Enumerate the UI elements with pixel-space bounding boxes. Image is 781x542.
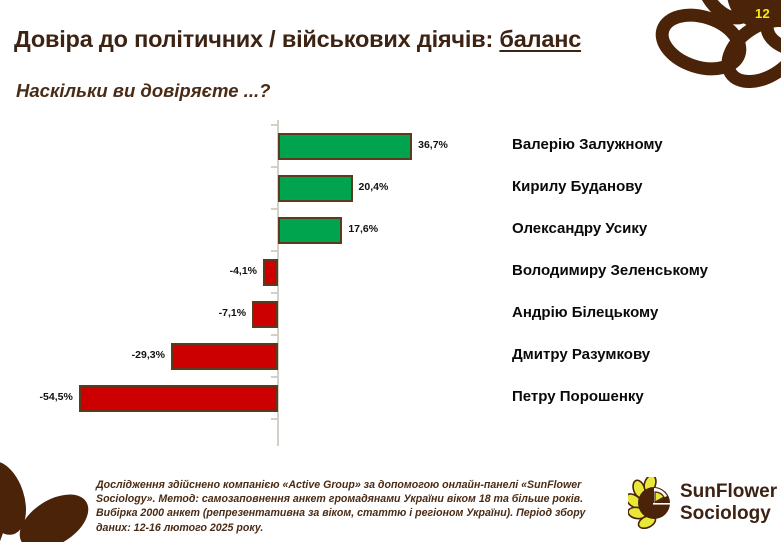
category-label: Кирилу Буданову (512, 178, 642, 195)
slide: 12 Довіра до політичних / військових дія… (0, 0, 781, 542)
trust-balance-bar-chart: 36,7%20,4%17,6%-4,1%-7,1%-29,3%-54,5% Ва… (0, 118, 781, 448)
bar-value-label: 20,4% (359, 181, 389, 193)
petals-decoration-icon (0, 450, 96, 542)
bar-value-label: 36,7% (418, 139, 448, 151)
bar-value-label: -7,1% (219, 307, 246, 319)
sunflower-logo-icon (628, 477, 676, 529)
page-title-main: Довіра до політичних / військових діячів… (14, 26, 493, 52)
bar-negative (79, 385, 278, 412)
bar-negative (263, 259, 278, 286)
bar-row: 20,4% (0, 168, 500, 210)
sunflower-sociology-logo: SunFlower Sociology (628, 477, 776, 533)
bar-row: 36,7% (0, 126, 500, 168)
category-label: Андрію Білецькому (512, 304, 658, 321)
bar-positive (278, 175, 353, 202)
bar-row: -54,5% (0, 378, 500, 420)
bar-positive (278, 217, 342, 244)
methodology-note: Дослідження здійснено компанією «Active … (96, 478, 604, 535)
bar-negative (171, 343, 278, 370)
page-title: Довіра до політичних / військових діячів… (14, 26, 581, 53)
category-label: Володимиру Зеленському (512, 262, 708, 279)
bar-positive (278, 133, 412, 160)
logo-line-1: SunFlower (680, 481, 777, 503)
bar-row: -29,3% (0, 336, 500, 378)
category-label: Петру Порошенку (512, 388, 644, 405)
page-title-accent: баланс (499, 26, 581, 52)
bar-value-label: -54,5% (40, 391, 73, 403)
bar-row: -7,1% (0, 294, 500, 336)
page-number: 12 (755, 6, 770, 21)
bar-value-label: -29,3% (132, 349, 165, 361)
bar-value-label: -4,1% (230, 265, 257, 277)
logo-wordmark: SunFlower Sociology (680, 481, 777, 525)
logo-line-2: Sociology (680, 503, 777, 525)
category-label: Валерію Залужному (512, 136, 663, 153)
category-label: Олександру Усику (512, 220, 647, 237)
bar-value-label: 17,6% (348, 223, 378, 235)
bar-negative (252, 301, 278, 328)
bar-row: -4,1% (0, 252, 500, 294)
chart-plot-area: 36,7%20,4%17,6%-4,1%-7,1%-29,3%-54,5% (0, 118, 500, 448)
bar-row: 17,6% (0, 210, 500, 252)
category-label: Дмитру Разумкову (512, 346, 650, 363)
page-subtitle: Наскільки ви довіряєте ...? (16, 80, 270, 102)
